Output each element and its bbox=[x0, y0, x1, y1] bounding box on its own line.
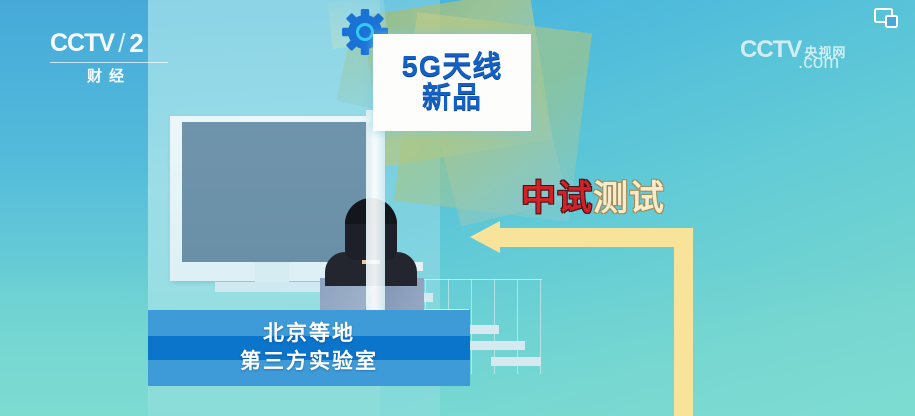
channel-logo-mark: CCTV bbox=[50, 29, 114, 58]
flow-label-secondary: 测试 bbox=[593, 179, 665, 218]
arrow-vertical-stem bbox=[674, 228, 693, 416]
broadcast-frame: 5G天线 新品 北京等地 第三方实验室 中试测试 CCTV / 2 财经 CCT… bbox=[0, 0, 915, 416]
channel-logo-slash: / bbox=[118, 28, 125, 59]
title-card-line2: 新品 bbox=[422, 83, 482, 113]
monitor-neck bbox=[255, 262, 289, 284]
gantt-bar bbox=[491, 357, 541, 366]
watermark-cctv-com: CCTV 央视网 .com bbox=[740, 36, 846, 74]
banner-line1: 北京等地 bbox=[263, 320, 355, 348]
gantt-bar bbox=[469, 341, 525, 350]
watermark-com-text: .com bbox=[798, 52, 846, 74]
watermark-cctv-text: CCTV bbox=[740, 36, 801, 64]
channel-logo-number: 2 bbox=[129, 28, 143, 59]
channel-logo-subtitle: 财经 bbox=[50, 65, 168, 86]
title-card-line1: 5G天线 bbox=[402, 52, 503, 82]
banner-text-group: 北京等地 第三方实验室 bbox=[148, 310, 470, 386]
monitor-base bbox=[215, 282, 333, 292]
arrow-head-left-icon bbox=[470, 221, 500, 253]
channel-logo-rule bbox=[50, 62, 168, 63]
arrow-horizontal-stem bbox=[498, 228, 693, 247]
caption-banner: 北京等地 第三方实验室 bbox=[148, 310, 470, 386]
banner-line2: 第三方实验室 bbox=[240, 348, 378, 376]
title-card-pole bbox=[366, 110, 385, 310]
desktop-monitor-screen bbox=[182, 122, 372, 262]
title-card: 5G天线 新品 bbox=[373, 34, 531, 131]
flow-label: 中试测试 bbox=[521, 181, 665, 216]
channel-logo-cctv2: CCTV / 2 财经 bbox=[50, 28, 175, 90]
picture-in-picture-icon[interactable] bbox=[874, 8, 898, 28]
flow-label-primary: 中试 bbox=[521, 179, 593, 218]
